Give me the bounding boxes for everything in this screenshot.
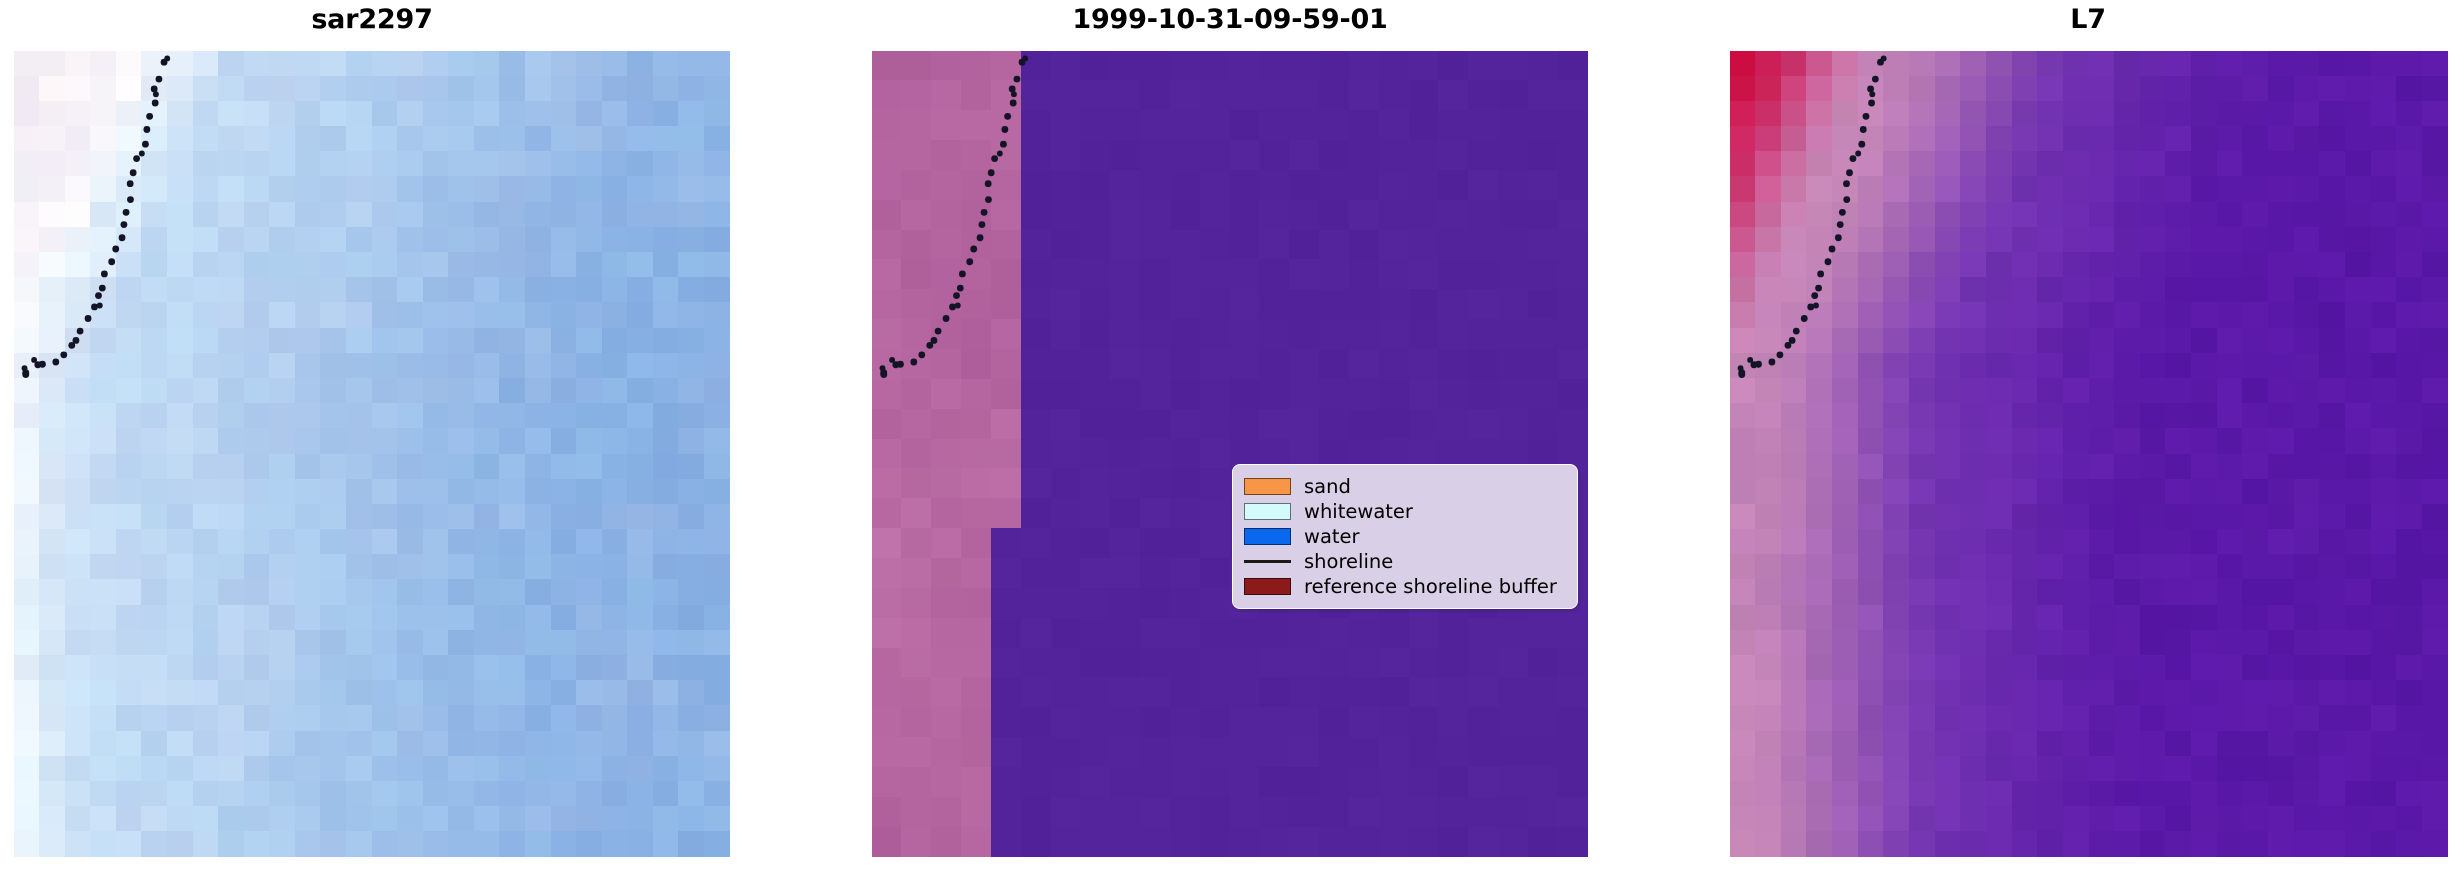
figure-root: sar2297 1999-10-31-09-59-01 L7 sand whit… xyxy=(0,0,2460,872)
legend-line-shoreline xyxy=(1244,553,1291,570)
legend-label-sand: sand xyxy=(1304,476,1351,498)
legend-item-sand: sand xyxy=(1244,474,1566,499)
legend-label-shoreline: shoreline xyxy=(1304,551,1393,573)
panel-title-1: 1999-10-31-09-59-01 xyxy=(858,4,1602,36)
legend: sand whitewater water shoreline referenc… xyxy=(1232,464,1578,609)
raster-image-classification xyxy=(872,51,1588,857)
panel-1999-10-31-09-59-01: 1999-10-31-09-59-01 xyxy=(858,0,1602,872)
panel-sar2297: sar2297 xyxy=(0,0,744,872)
legend-swatch-water xyxy=(1244,528,1291,545)
legend-swatch-reference-shoreline-buffer xyxy=(1244,578,1291,595)
panel-title-2: L7 xyxy=(1716,4,2460,36)
legend-label-whitewater: whitewater xyxy=(1304,501,1413,523)
legend-label-reference-shoreline-buffer: reference shoreline buffer xyxy=(1304,576,1557,598)
legend-label-water: water xyxy=(1304,526,1360,548)
raster-image-sar2297 xyxy=(14,51,730,857)
raster-image-l7 xyxy=(1730,51,2448,857)
panel-title-0: sar2297 xyxy=(0,4,744,36)
legend-swatch-whitewater xyxy=(1244,503,1291,520)
legend-swatch-sand xyxy=(1244,478,1291,495)
legend-item-whitewater: whitewater xyxy=(1244,499,1566,524)
legend-item-reference-shoreline-buffer: reference shoreline buffer xyxy=(1244,574,1566,599)
legend-item-shoreline: shoreline xyxy=(1244,549,1566,574)
legend-item-water: water xyxy=(1244,524,1566,549)
panel-l7: L7 xyxy=(1716,0,2460,872)
